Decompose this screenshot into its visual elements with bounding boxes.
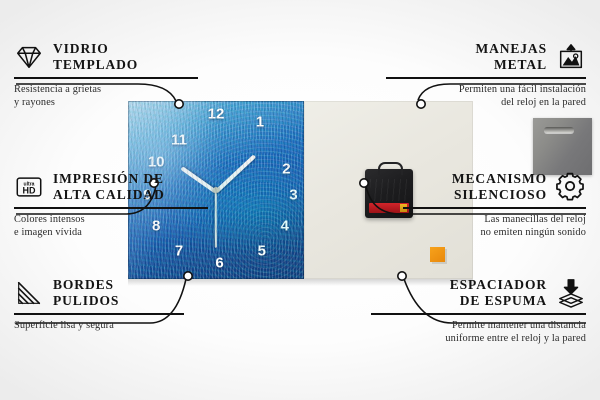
feature-title: MANEJAS METAL [475, 41, 547, 72]
feature-title: MECANISMO SILENCIOSO [452, 171, 547, 202]
feature-desc-line2: del reloj en la pared [501, 97, 586, 108]
hanging-frame-icon [556, 42, 586, 72]
clock-numeral-1: 1 [256, 115, 264, 130]
clock-numeral-2: 2 [282, 161, 290, 176]
polished-edge-icon [14, 278, 44, 308]
ultra-hd-icon: ultra HD [14, 172, 44, 202]
feature-desc-line2: uniforme entre el reloj y la pared [445, 333, 586, 344]
feature-title-line1: MANEJAS [475, 41, 547, 56]
clock-numeral-7: 7 [175, 243, 183, 258]
foam-spacer-part [430, 247, 445, 262]
feature-description: Permiten una fácil instalación del reloj… [371, 83, 586, 110]
feature-mecanismo-silencioso: MECANISMO SILENCIOSO Las manecillas del … [371, 171, 586, 240]
feature-description: Permite mantener una distancia uniforme … [371, 319, 586, 346]
feature-description: Colores intensos e imagen vívida [14, 213, 229, 240]
feature-divider [14, 77, 198, 79]
diamond-icon [14, 42, 44, 72]
clock-numeral-3: 3 [289, 188, 297, 203]
feature-espaciador-de-espuma: ESPACIADOR DE ESPUMA Permite mantener un… [371, 277, 586, 346]
clock-numeral-5: 5 [258, 243, 266, 258]
gear-icon [556, 172, 586, 202]
feature-divider [403, 207, 586, 209]
feature-title-line1: IMPRESIÓN DE [53, 171, 164, 186]
feature-desc-line2: no emiten ningún sonido [480, 227, 586, 238]
feature-title-line1: ESPACIADOR [450, 277, 547, 292]
hanger-plate [533, 118, 592, 175]
feature-desc-line1: Resistencia a grietas [14, 84, 101, 95]
feature-manejas-metal: MANEJAS METAL Permiten una fácil instala… [371, 41, 586, 110]
feature-desc-line2: y rayones [14, 97, 55, 108]
feature-title-line2: ALTA CALIDAD [53, 187, 165, 202]
feature-divider [371, 313, 586, 315]
feature-title-line2: PULIDOS [53, 293, 119, 308]
infographic-canvas: 12 1 2 3 4 5 6 7 8 9 10 11 [0, 0, 600, 400]
ultra-hd-main-text: HD [23, 185, 36, 195]
feature-desc-line1: Superficie lisa y segura [14, 320, 114, 331]
feature-title-line2: DE ESPUMA [460, 293, 547, 308]
feature-divider [386, 77, 586, 79]
feature-title: BORDES PULIDOS [53, 277, 119, 308]
clock-numeral-4: 4 [280, 218, 288, 233]
feature-impresion-alta-calidad: ultra HD IMPRESIÓN DE ALTA CALIDAD Color… [14, 171, 229, 240]
feature-desc-line1: Permite mantener una distancia [452, 320, 586, 331]
clock-numeral-10: 10 [148, 154, 165, 169]
feature-desc-line1: Las manecillas del reloj [484, 214, 586, 225]
feature-desc-line1: Colores intensos [14, 214, 85, 225]
feature-title-line2: SILENCIOSO [454, 187, 547, 202]
feature-title-line2: METAL [494, 57, 547, 72]
feature-divider [14, 313, 184, 315]
feature-title-line1: BORDES [53, 277, 114, 292]
feature-title-line1: MECANISMO [452, 171, 547, 186]
feature-title: IMPRESIÓN DE ALTA CALIDAD [53, 171, 165, 202]
feature-description: Las manecillas del reloj no emiten ningú… [371, 213, 586, 240]
feature-description: Resistencia a grietas y rayones [14, 83, 229, 110]
clock-numeral-6: 6 [215, 255, 223, 270]
feature-vidrio-templado: VIDRIO TEMPLADO Resistencia a grietas y … [14, 41, 229, 110]
feature-title: VIDRIO TEMPLADO [53, 41, 138, 72]
foam-spacer-icon [556, 278, 586, 308]
feature-desc-line2: e imagen vívida [14, 227, 82, 238]
clock-numeral-11: 11 [171, 133, 187, 148]
feature-desc-line1: Permiten una fácil instalación [459, 84, 586, 95]
feature-divider [14, 207, 208, 209]
feature-title: ESPACIADOR DE ESPUMA [450, 277, 547, 308]
feature-title-line2: TEMPLADO [53, 57, 138, 72]
feature-description: Superficie lisa y segura [14, 319, 229, 332]
feature-bordes-pulidos: BORDES PULIDOS Superficie lisa y segura [14, 277, 229, 332]
feature-title-line1: VIDRIO [53, 41, 109, 56]
